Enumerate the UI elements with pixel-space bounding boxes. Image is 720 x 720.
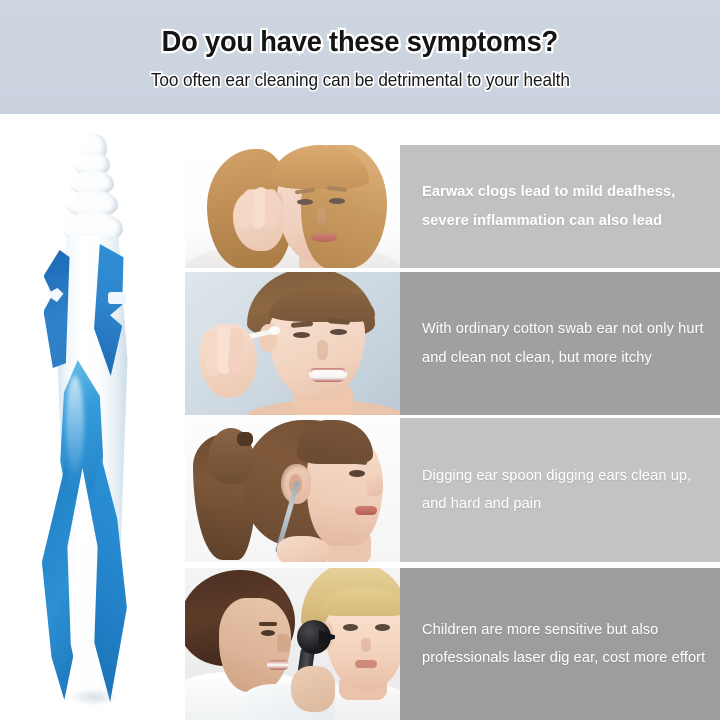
photo2-eye-left — [293, 332, 310, 338]
photo1-nose — [317, 207, 326, 225]
tool-grip-gloss — [66, 376, 84, 472]
tool-shadow — [68, 688, 120, 706]
symptom-text: Earwax clogs lead to mild deafhess, seve… — [422, 178, 720, 234]
photo-3-scene — [185, 418, 400, 562]
photo4-child-lips — [355, 660, 377, 668]
photo-1-scene — [185, 145, 400, 268]
photo3-nose — [367, 474, 383, 496]
photo1-eye-right — [329, 198, 345, 204]
man-cotton-swab-photo — [185, 272, 400, 415]
symptom-row: With ordinary cotton swab ear not only h… — [185, 272, 720, 415]
symptom-text: Digging ear spoon digging ears clean up,… — [422, 462, 720, 518]
photo4-child-eye-right — [375, 624, 390, 631]
symptom-row: Digging ear spoon digging ears clean up,… — [185, 418, 720, 562]
woman-ear-spoon-photo — [185, 418, 400, 562]
photo4-child-eye-left — [343, 624, 358, 631]
photo3-hand — [277, 536, 329, 562]
symptom-row: Earwax clogs lead to mild deafhess, seve… — [185, 145, 720, 268]
photo1-lips — [311, 233, 337, 242]
doctor-otoscope-child-photo — [185, 568, 400, 720]
photo4-child-nose — [361, 638, 371, 652]
tool-flash-right — [108, 292, 126, 304]
photo-2-scene — [185, 272, 400, 415]
spiral-ear-cleaner-tool — [28, 132, 158, 712]
photo2-eye-right — [330, 329, 347, 335]
page-title: Do you have these symptoms? — [162, 26, 558, 59]
woman-holding-ear-photo — [185, 145, 400, 268]
photo-4-scene — [185, 568, 400, 720]
photo4-doctor-eye — [261, 630, 275, 636]
photo2-cotton-swab-tip — [269, 326, 280, 335]
symptom-text-panel: Children are more sensitive but also pro… — [400, 568, 720, 720]
tool-blue-accent-left — [44, 250, 70, 368]
symptom-text: Children are more sensitive but also pro… — [422, 616, 720, 672]
product-image-pane — [0, 114, 185, 720]
photo4-doctor-brow — [259, 622, 277, 626]
page-subtitle: Too often ear cleaning can be detrimenta… — [151, 70, 570, 91]
photo3-lips — [355, 506, 377, 515]
photo4-doctor-nose — [277, 634, 291, 652]
photo3-hair-front — [297, 420, 373, 464]
photo4-doctor-lips — [267, 660, 289, 670]
photo3-hair-band — [237, 432, 253, 446]
photo1-finger-3 — [265, 189, 277, 227]
photo4-doctor-hand — [291, 666, 335, 712]
symptom-text-panel: With ordinary cotton swab ear not only h… — [400, 272, 720, 415]
symptom-text-panel: Earwax clogs lead to mild deafhess, seve… — [400, 145, 720, 268]
symptom-text: With ordinary cotton swab ear not only h… — [422, 315, 720, 371]
product-infographic: Do you have these symptoms? Too often ea… — [0, 0, 720, 720]
header-banner: Do you have these symptoms? Too often ea… — [0, 0, 720, 114]
photo2-teeth — [312, 370, 344, 376]
photo3-eye — [349, 470, 365, 477]
symptom-row: Children are more sensitive but also pro… — [185, 568, 720, 720]
symptom-text-panel: Digging ear spoon digging ears clean up,… — [400, 418, 720, 562]
photo1-eye-left — [297, 199, 313, 205]
photo2-nose — [317, 340, 328, 360]
symptom-grid: Earwax clogs lead to mild deafhess, seve… — [185, 114, 720, 720]
